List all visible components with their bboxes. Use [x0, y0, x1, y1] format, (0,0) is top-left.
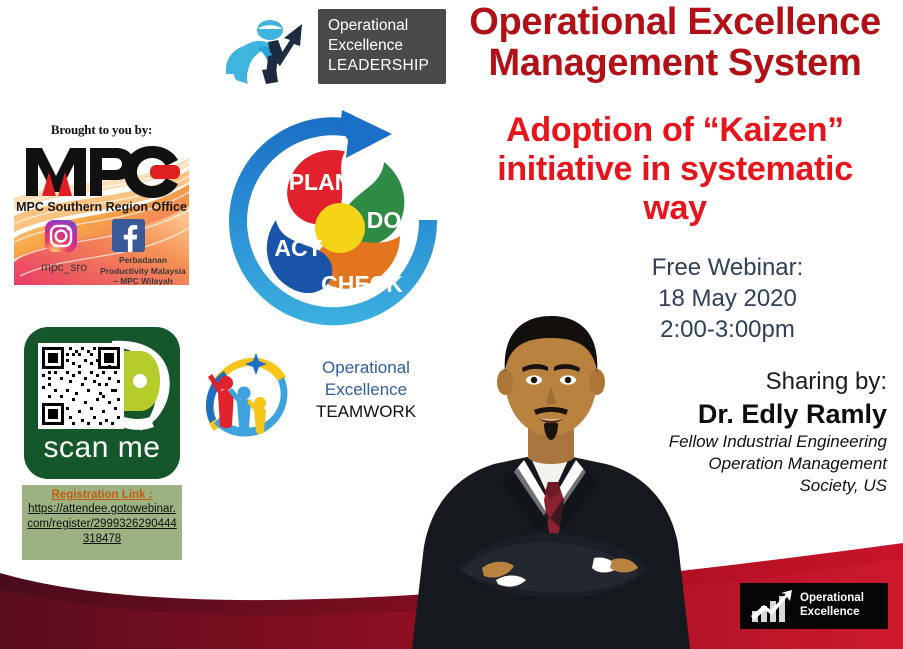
- leadership-line3: LEADERSHIP: [328, 57, 429, 74]
- registration-link-title: Registration Link :: [26, 489, 178, 501]
- main-title-line2: Management System: [489, 42, 862, 84]
- mpc-office-label: MPC Southern Region Office: [14, 200, 189, 214]
- speaker-title-line1: Fellow Industrial Engineering: [560, 431, 887, 453]
- growth-chart-icon: [748, 589, 794, 623]
- webinar-details: Free Webinar: 18 May 2020 2:00-3:00pm: [560, 252, 895, 345]
- speaker-title-line2: Operation Management: [560, 453, 887, 475]
- leadership-panel: Operational Excellence LEADERSHIP: [318, 9, 446, 84]
- main-title-line1: Operational Excellence: [469, 1, 881, 43]
- leadership-line1: Operational: [328, 17, 408, 34]
- subtitle: Adoption of “Kaizen” initiative in syste…: [455, 111, 895, 228]
- brought-to-you-by-label: Brought to you by:: [14, 122, 189, 138]
- svg-text:PLAN: PLAN: [289, 169, 352, 195]
- webinar-time: 2:00-3:00pm: [560, 314, 895, 345]
- facebook-page-name: Perbadanan Productivity Malaysia – MPC W…: [98, 255, 188, 285]
- poster-headline: Operational Excellence Management System…: [455, 2, 895, 228]
- registration-url[interactable]: https://attendee.gotowebinar.com/registe…: [26, 502, 178, 547]
- sharing-by-label: Sharing by:: [560, 367, 887, 397]
- svg-text:DO: DO: [367, 207, 402, 233]
- subtitle-line2: initiative in systematic: [497, 150, 853, 188]
- mpc-sponsor-card: Brought to you by:: [14, 120, 189, 285]
- facebook-icon: [112, 219, 145, 252]
- instagram-icon: [44, 219, 78, 253]
- speaker-title-line3: Society, US: [560, 475, 887, 497]
- webinar-date: 18 May 2020: [560, 283, 895, 314]
- speaker-details: Sharing by: Dr. Edly Ramly Fellow Indust…: [560, 367, 895, 497]
- oe-badge-line1: Operational: [800, 591, 864, 605]
- webinar-label: Free Webinar:: [560, 252, 895, 283]
- subtitle-line1: Adoption of “Kaizen”: [506, 111, 844, 149]
- operational-excellence-badge: Operational Excellence: [740, 583, 888, 629]
- leadership-figure-icon: [218, 4, 328, 90]
- speaker-name: Dr. Edly Ramly: [560, 397, 887, 431]
- subtitle-line3: way: [643, 189, 706, 227]
- instagram-handle: mpc_sro: [28, 260, 100, 274]
- svg-text:ACT: ACT: [274, 235, 321, 261]
- teamwork-figures-icon: [198, 347, 294, 443]
- leadership-line2: Excellence: [328, 37, 403, 54]
- oe-badge-line2: Excellence: [800, 605, 864, 619]
- qr-code[interactable]: [38, 343, 124, 429]
- svg-text:CHECK: CHECK: [321, 271, 403, 297]
- qr-scan-card[interactable]: scan me: [24, 327, 180, 479]
- oe-leadership-logo: Operational Excellence LEADERSHIP: [218, 4, 446, 90]
- mpc-logo: [22, 142, 182, 200]
- registration-link-box[interactable]: Registration Link : https://attendee.got…: [22, 485, 182, 560]
- webinar-poster: Operational Excellence LEADERSHIP Brough…: [0, 0, 903, 649]
- main-title: Operational Excellence Management System: [455, 2, 895, 84]
- scan-me-label: scan me: [24, 431, 180, 465]
